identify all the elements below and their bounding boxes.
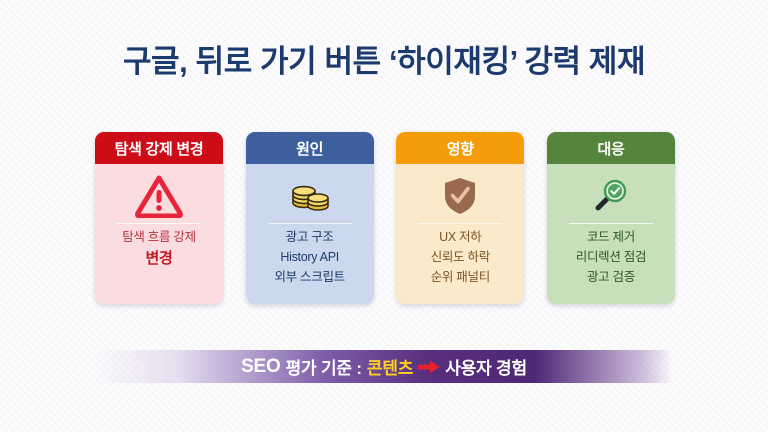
card-divider [569,223,653,224]
card-line: UX 저하 [439,229,481,246]
card-line: 신뢰도 하락 [431,249,490,266]
card-header-impact: 영향 [396,132,524,164]
banner-highlight: 콘텐츠 [367,354,413,379]
card-line: 외부 스크립트 [274,269,344,286]
card-divider [418,223,502,224]
card-lines-cause: 광고 구조 History API 외부 스크립트 [246,229,374,286]
card-cause[interactable]: 원인 [246,132,374,304]
card-line: 광고 검증 [587,269,635,286]
card-impact[interactable]: 영향 UX 저하 신뢰도 하락 순위 패널티 [396,132,524,304]
banner-text: SEO 평가 기준 : 콘텐츠 사용자 경험 [241,354,527,379]
card-line: 코드 제거 [587,229,635,246]
card-line: History API [280,249,339,266]
card-response[interactable]: 대응 코드 제거 리디렉션 점검 광고 검증 [547,132,675,304]
card-line: 리디렉션 점검 [576,249,646,266]
card-line: 탐색 흐름 강제 [122,229,196,246]
banner-suffix: 사용자 경험 [445,354,527,379]
banner-middle: 평가 기준 : [286,354,362,379]
magnifier-check-icon [589,171,633,221]
card-divider [268,223,352,224]
card-line: 광고 구조 [286,229,334,246]
right-arrow-icon [418,360,440,374]
warning-triangle-icon [135,171,183,221]
card-lines-impact: UX 저하 신뢰도 하락 순위 패널티 [396,229,524,286]
card-row: 탐색 강제 변경 탐색 흐름 강제 변경 원인 [95,132,675,304]
card-body-cause: 광고 구조 History API 외부 스크립트 [246,164,374,304]
shield-check-icon [441,171,479,221]
page-title: 구글, 뒤로 가기 버튼 ‘하이재킹’ 강력 제재 [0,36,768,81]
card-navigation-force-change[interactable]: 탐색 강제 변경 탐색 흐름 강제 변경 [95,132,223,304]
card-lines-navigation-force-change: 탐색 흐름 강제 변경 [95,229,223,269]
banner-prefix: SEO [241,356,281,378]
card-line-emphasis: 변경 [145,249,172,269]
bottom-banner: SEO 평가 기준 : 콘텐츠 사용자 경험 [95,350,673,383]
card-divider [117,223,201,224]
coins-icon [287,171,333,221]
card-body-response: 코드 제거 리디렉션 점검 광고 검증 [547,164,675,304]
card-body-impact: UX 저하 신뢰도 하락 순위 패널티 [396,164,524,304]
card-header-navigation-force-change: 탐색 강제 변경 [95,132,223,164]
card-header-response: 대응 [547,132,675,164]
card-line: 순위 패널티 [431,269,490,286]
card-body-navigation-force-change: 탐색 흐름 강제 변경 [95,164,223,304]
card-lines-response: 코드 제거 리디렉션 점검 광고 검증 [547,229,675,286]
card-header-cause: 원인 [246,132,374,164]
